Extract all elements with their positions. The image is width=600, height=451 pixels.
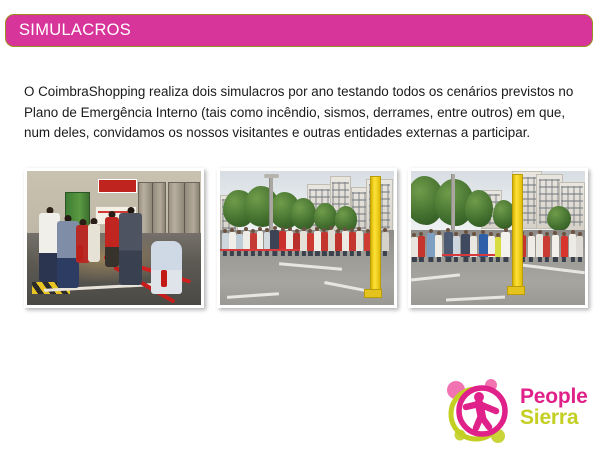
photo-outdoor-assembly-crowd: [217, 168, 397, 308]
red-wall-sign: [98, 179, 137, 193]
photo-gallery: [0, 168, 600, 310]
logo-wordmark: People Sierra: [520, 386, 588, 428]
logo-line-people: People: [520, 386, 588, 407]
tree: [465, 190, 493, 228]
photo-1-content: [27, 171, 201, 305]
crowd-group: [220, 222, 394, 251]
yellow-bollard: [370, 176, 381, 293]
fire-extinguisher: [77, 245, 83, 261]
barrier-tape: [220, 249, 300, 251]
people-sierra-figure-icon: [446, 378, 518, 446]
barrier-tape: [442, 254, 494, 256]
page-title: SIMULACROS: [19, 22, 131, 39]
crowd-group: [411, 225, 585, 257]
lamp-post-head: [264, 174, 280, 178]
fire-extinguisher: [161, 270, 167, 287]
slide-title-bar: SIMULACROS: [5, 14, 593, 47]
photo-2-content: [220, 171, 394, 305]
person-figure: [105, 211, 119, 267]
photo-3-content: [411, 171, 585, 305]
yellow-bollard-base: [364, 289, 382, 298]
body-paragraph: O CoimbraShopping realiza dois simulacro…: [24, 82, 580, 144]
photo-indoor-fire-hose-drill: [24, 168, 204, 308]
lamp-post: [451, 174, 455, 230]
person-figure: [88, 218, 100, 262]
photo-outdoor-evacuation-bollard: [408, 168, 588, 308]
logo-line-sierra: Sierra: [520, 407, 588, 428]
people-sierra-logo: People Sierra: [446, 378, 598, 446]
yellow-bollard: [512, 174, 523, 291]
person-figure: [119, 207, 142, 285]
yellow-bollard-base: [507, 286, 525, 295]
